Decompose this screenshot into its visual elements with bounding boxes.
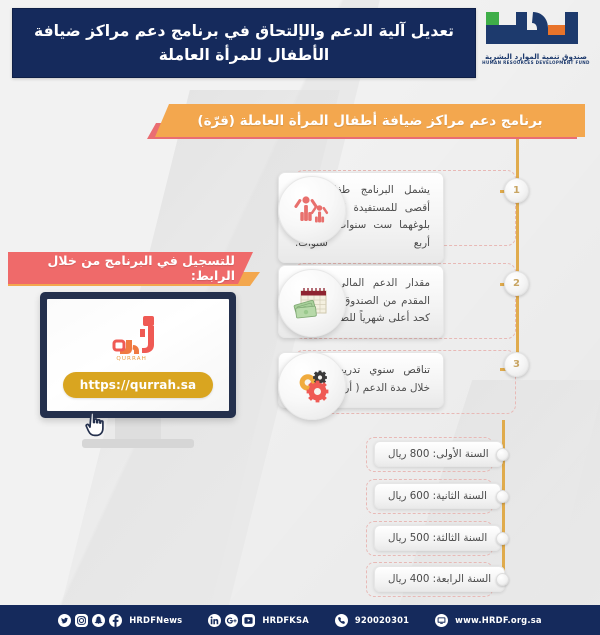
register-banner: للتسجيل في البرنامج من خلال الرابط: [8,252,253,284]
year-4-label: السنة الرابعة: 400 ريال [374,566,505,592]
hrdf-logo: صندوق تنمية الموارد البشرية HUMAN RESOUR… [480,6,592,72]
footer-bar: HRDFNews HRDFKSA 920020301 www.HRD [0,605,600,635]
hand-cursor-icon [84,410,106,438]
year-3-label: السنة الثالثة: 500 ريال [374,525,501,551]
monitor-illustration: QURRAH https://qurrah.sa [22,292,254,452]
step-1: يشمل البرنامج طفلين كحد أقصى للمستفيدة ا… [278,172,500,263]
hrdf-logo-icon [480,6,592,52]
monitor-base [82,439,194,448]
monitor-icon [435,614,448,627]
year-1-dot [496,448,509,461]
year-2-dot [496,490,509,503]
twitter-icon[interactable] [58,614,71,627]
year-row-2: السنة الثانية: 600 ريال [374,483,501,509]
year-3-dot [496,532,509,545]
year-4-dot [496,573,509,586]
program-banner: برنامج دعم مراكز ضيافة أطفال المرأة العا… [155,104,585,137]
footer-phone-label: 920020301 [355,615,409,625]
infographic-page: تعديل آلية الدعم والإلتحاق في برنامج دعم… [0,0,600,635]
footer-group-phone: 920020301 [335,614,409,627]
monitor-screen: QURRAH https://qurrah.sa [47,299,229,411]
step-3-number: 3 [504,352,529,377]
footer-website-label: www.HRDF.org.sa [455,615,542,625]
footer-group-website: www.HRDF.org.sa [435,614,542,627]
svg-text:QURRAH: QURRAH [116,356,147,362]
qurrah-url-button[interactable]: https://qurrah.sa [63,372,213,398]
calendar-money-icon [278,269,346,337]
header-banner: تعديل آلية الدعم والإلتحاق في برنامج دعم… [12,8,476,78]
googleplus-icon[interactable] [225,614,238,627]
gears-icon [278,352,346,420]
monitor-neck [115,418,161,439]
youtube-icon[interactable] [242,614,255,627]
year-row-1: السنة الأولى: 800 ريال [374,441,503,467]
monitor-frame: QURRAH https://qurrah.sa [40,292,236,418]
year-row-4: السنة الرابعة: 400 ريال [374,566,505,592]
linkedin-icon[interactable] [208,614,221,627]
family-figures-icon [278,176,346,244]
step-2-number: 2 [504,271,529,296]
phone-icon [335,614,348,627]
snapchat-icon[interactable] [92,614,105,627]
facebook-icon[interactable] [109,614,122,627]
hrdf-logo-english: HUMAN RESOURCES DEVELOPMENT FUND [480,61,592,66]
program-banner-text: برنامج دعم مراكز ضيافة أطفال المرأة العا… [197,113,542,129]
year-row-3: السنة الثالثة: 500 ريال [374,525,501,551]
step-2: مقدار الدعم المالي الشهري المقدم من الصن… [278,265,500,338]
year-1-label: السنة الأولى: 800 ريال [374,441,503,467]
page-title: تعديل آلية الدعم والإلتحاق في برنامج دعم… [13,19,475,67]
footer-news-label: HRDFNews [129,615,182,625]
register-banner-text: للتسجيل في البرنامج من خلال الرابط: [8,253,235,283]
step-1-number: 1 [504,178,529,203]
step-3: تناقص سنوي تدريجي للدعم خلال مدة الدعم (… [278,352,500,408]
timeline-spine-main [516,136,519,369]
qurrah-logo-icon: QURRAH [107,313,169,365]
hrdf-logo-mark [480,6,592,52]
hrdf-logo-text: صندوق تنمية الموارد البشرية HUMAN RESOUR… [480,53,592,66]
year-2-label: السنة الثانية: 600 ريال [374,483,501,509]
footer-group-news: HRDFNews [58,614,182,627]
instagram-icon[interactable] [75,614,88,627]
footer-group-ksa: HRDFKSA [208,614,309,627]
footer-ksa-label: HRDFKSA [262,615,309,625]
